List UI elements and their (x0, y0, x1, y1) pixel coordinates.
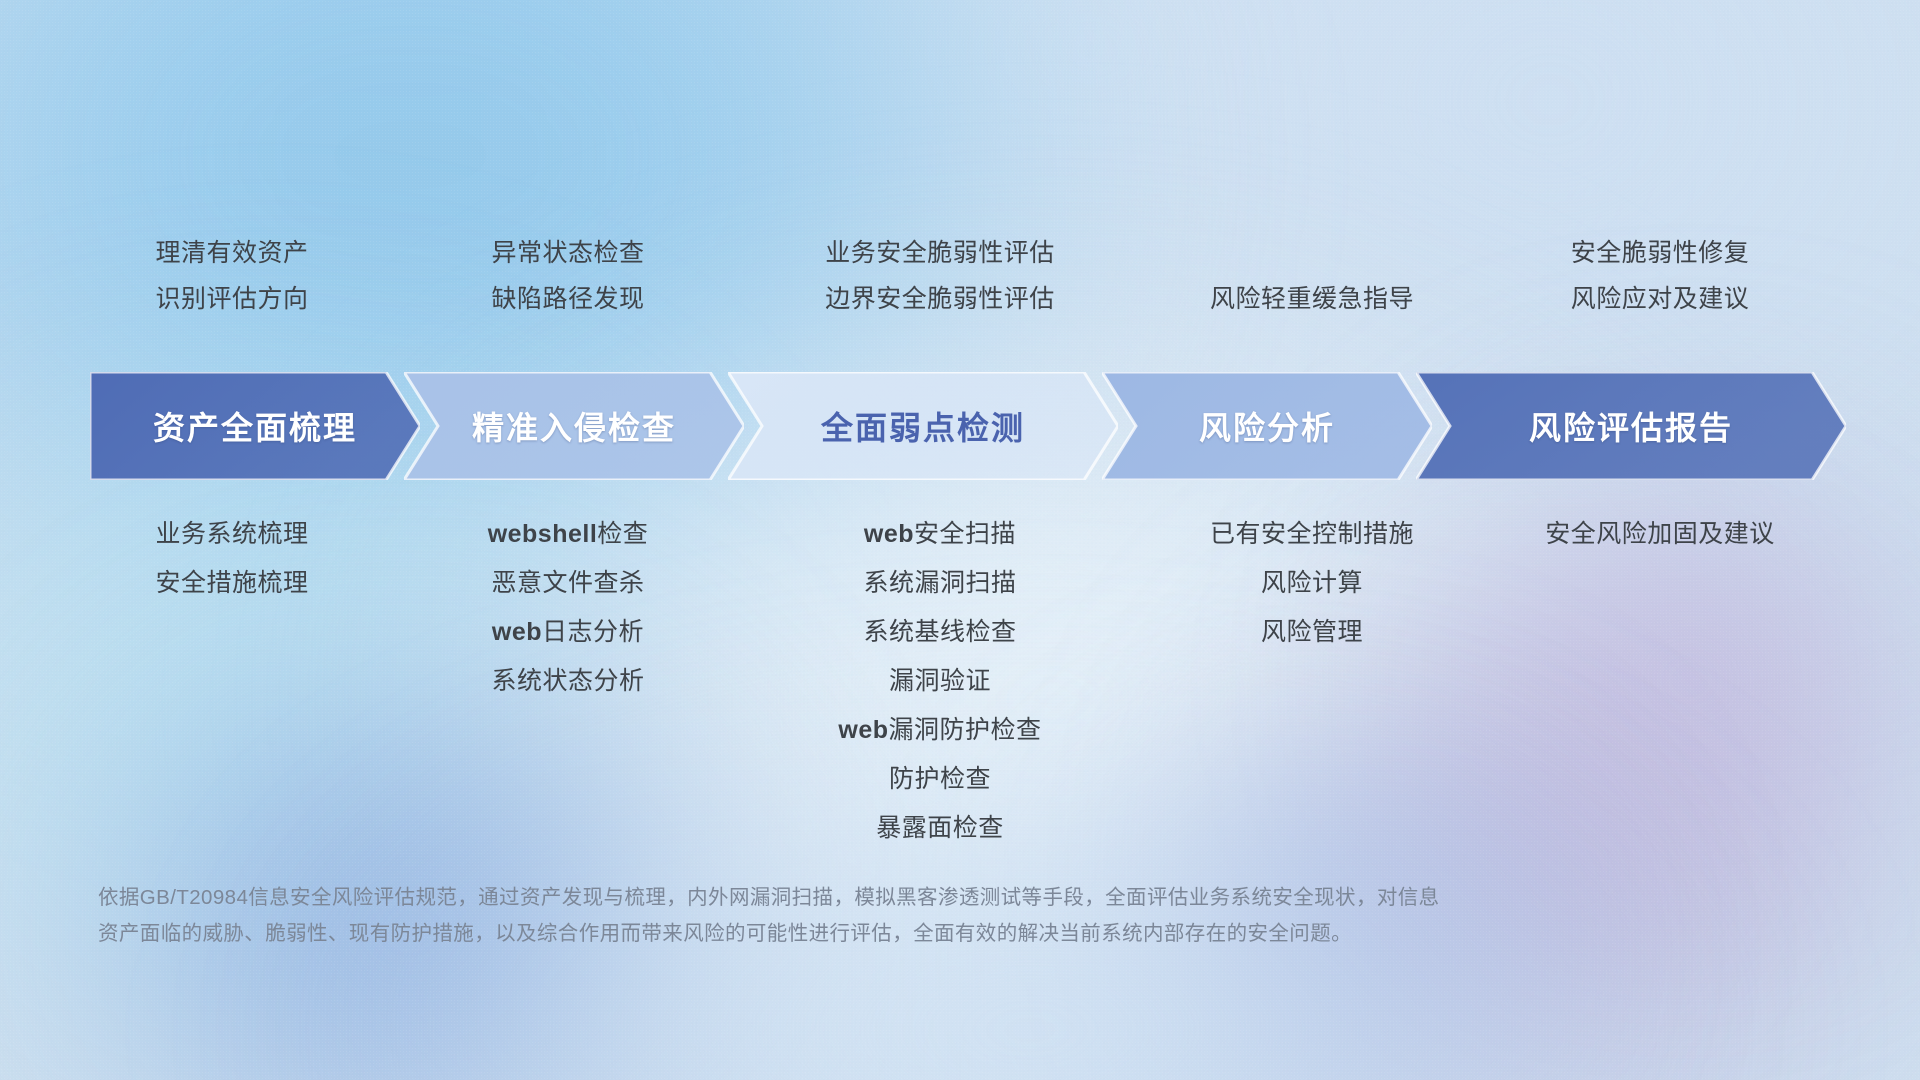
list-item: 恶意文件查杀 (0, 559, 1528, 608)
stage-chevron-band: 资产全面梳理精准入侵检查全面弱点检测风险分析风险评估报告 (0, 372, 1920, 480)
list-item-cn: 安全扫描 (914, 520, 1016, 548)
stage-chevron-assessment-report[interactable]: 风险评估报告 (1416, 372, 1846, 480)
list-item: 风险计算 (352, 559, 1920, 608)
list-item: 识别评估方向 (0, 276, 1192, 322)
list-item: web安全扫描 (0, 510, 1900, 559)
list-item-ascii: web (492, 618, 542, 646)
footnote-line-2: 资产面临的威胁、脆弱性、现有防护措施，以及综合作用而带来风险的可能性进行评估，全… (98, 916, 1718, 952)
list-item: 已有安全控制措施 (352, 510, 1920, 559)
list-item: 风险管理 (352, 608, 1920, 657)
list-item: 系统基线检查 (0, 608, 1900, 657)
list-item-ascii: web (864, 520, 914, 548)
stage-chevron-risk-analysis[interactable]: 风险分析 (1102, 372, 1432, 480)
list-item-cn: 漏洞防护检查 (889, 716, 1042, 744)
list-item-cn: 检查 (597, 520, 648, 548)
list-item: 业务系统梳理 (0, 510, 1192, 559)
stage-label-risk-analysis: 风险分析 (1199, 403, 1335, 449)
stage-label-weakness-detection: 全面弱点检测 (821, 403, 1025, 449)
footnote-paragraph: 依据GB/T20984信息安全风险评估规范，通过资产发现与梳理，内外网漏洞扫描，… (98, 880, 1718, 952)
list-item: 风险轻重缓急指导 (352, 276, 1920, 322)
list-item-ascii: webshell (488, 520, 598, 548)
list-item: 漏洞验证 (0, 657, 1900, 706)
list-item: 系统状态分析 (0, 657, 1528, 706)
process-diagram: 理清有效资产识别评估方向 异常状态检查缺陷路径发现 业务安全脆弱性评估边界安全脆… (0, 0, 1920, 1080)
stage-label-asset-inventory: 资产全面梳理 (153, 403, 357, 449)
stage-chevron-asset-inventory[interactable]: 资产全面梳理 (90, 372, 420, 480)
list-item: 安全脆弱性修复 (700, 230, 1920, 276)
list-item: 系统漏洞扫描 (0, 559, 1900, 608)
list-item-cn: 日志分析 (542, 618, 644, 646)
list-item: 暴露面检查 (0, 804, 1900, 853)
list-item: web日志分析 (0, 608, 1528, 657)
list-item: 风险应对及建议 (700, 276, 1920, 322)
list-item: 边界安全脆弱性评估 (0, 276, 1900, 322)
list-item: 安全风险加固及建议 (700, 510, 1920, 559)
stage-label-intrusion-check: 精准入侵检查 (472, 403, 676, 449)
list-item: 缺陷路径发现 (0, 276, 1528, 322)
stage-label-assessment-report: 风险评估报告 (1529, 403, 1733, 449)
list-item: 理清有效资产 (0, 230, 1192, 276)
list-item: webshell检查 (0, 510, 1528, 559)
list-item: 异常状态检查 (0, 230, 1528, 276)
stage-chevron-weakness-detection[interactable]: 全面弱点检测 (728, 372, 1118, 480)
list-item: 安全措施梳理 (0, 559, 1192, 608)
footnote-line-1: 依据GB/T20984信息安全风险评估规范，通过资产发现与梳理，内外网漏洞扫描，… (98, 880, 1718, 916)
list-item: 业务安全脆弱性评估 (0, 230, 1900, 276)
stage-chevron-intrusion-check[interactable]: 精准入侵检查 (404, 372, 744, 480)
list-item: web漏洞防护检查 (0, 706, 1900, 755)
list-item-ascii: web (838, 716, 888, 744)
list-item: 防护检查 (0, 755, 1900, 804)
